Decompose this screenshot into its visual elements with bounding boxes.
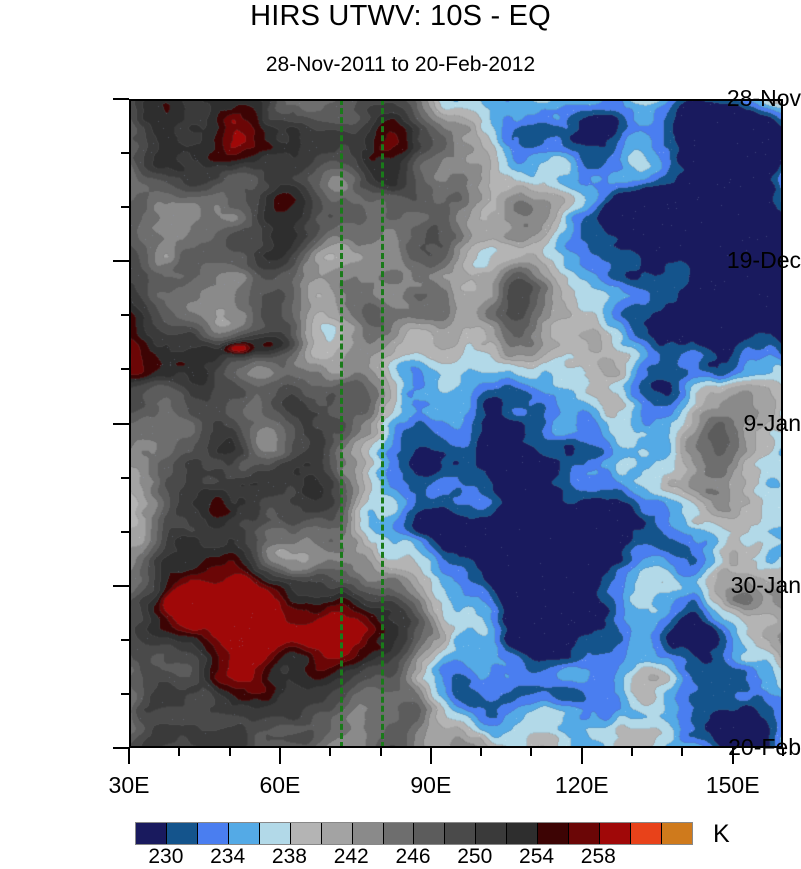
colorbar-tick-label: 250 <box>457 845 492 869</box>
x-tick-minor <box>681 748 683 756</box>
y-tick-minor <box>121 368 129 370</box>
colorbar-tick-label: 230 <box>148 845 183 869</box>
colorbar-cell[interactable] <box>414 823 445 844</box>
colorbar-cell[interactable] <box>476 823 507 844</box>
colorbar-cell[interactable] <box>569 823 600 844</box>
colorbar-cell[interactable] <box>538 823 569 844</box>
y-tick-label: 30-Jan <box>694 572 801 599</box>
colorbar-cell[interactable] <box>353 823 384 844</box>
colorbar[interactable] <box>135 822 693 845</box>
figure-subtitle: 28-Nov-2011 to 20-Feb-2012 <box>0 53 801 77</box>
x-tick-minor <box>178 748 180 756</box>
y-tick-minor <box>121 152 129 154</box>
x-tick-label: 30E <box>109 772 150 799</box>
x-tick-label: 120E <box>555 772 609 799</box>
colorbar-cell[interactable] <box>600 823 631 844</box>
y-tick-minor <box>121 639 129 641</box>
colorbar-tick-label: 246 <box>395 845 430 869</box>
x-tick-major <box>430 748 432 764</box>
colorbar-tick-label: 254 <box>519 845 554 869</box>
y-tick-major <box>113 98 129 100</box>
x-tick-label: 60E <box>259 772 300 799</box>
colorbar-tick-label: 238 <box>272 845 307 869</box>
y-tick-label: 9-Jan <box>694 410 801 437</box>
colorbar-cell[interactable] <box>136 823 167 844</box>
colorbar-cell[interactable] <box>322 823 353 844</box>
y-tick-major <box>113 260 129 262</box>
y-tick-minor <box>121 314 129 316</box>
x-tick-minor <box>480 748 482 756</box>
x-tick-minor <box>380 748 382 756</box>
x-tick-label: 150E <box>706 772 760 799</box>
colorbar-cell[interactable] <box>167 823 198 844</box>
x-tick-label: 90E <box>410 772 451 799</box>
colorbar-tick-label: 242 <box>334 845 369 869</box>
colorbar-cell[interactable] <box>662 823 692 844</box>
x-tick-minor <box>229 748 231 756</box>
hovmoller-figure: HIRS UTWV: 10S - EQ 28-Nov-2011 to 20-Fe… <box>0 0 801 863</box>
page-title: HIRS UTWV: 10S - EQ <box>0 0 801 33</box>
x-tick-minor <box>631 748 633 756</box>
colorbar-tick-label: 234 <box>210 845 245 869</box>
x-tick-major <box>732 748 734 764</box>
plot-area <box>129 99 783 748</box>
y-tick-label: 19-Dec <box>694 247 801 274</box>
y-tick-minor <box>121 693 129 695</box>
y-tick-major <box>113 423 129 425</box>
x-tick-major <box>128 748 130 764</box>
colorbar-cell[interactable] <box>198 823 229 844</box>
y-tick-minor <box>121 206 129 208</box>
y-tick-major <box>113 585 129 587</box>
colorbar-cell[interactable] <box>507 823 538 844</box>
hovmoller-contour-field <box>129 99 783 748</box>
colorbar-cell[interactable] <box>260 823 291 844</box>
x-tick-minor <box>530 748 532 756</box>
x-tick-major <box>279 748 281 764</box>
y-tick-label: 20-Feb <box>694 734 801 761</box>
x-tick-minor <box>782 748 784 756</box>
x-tick-major <box>581 748 583 764</box>
colorbar-cell[interactable] <box>291 823 322 844</box>
colorbar-tick-label: 258 <box>581 845 616 869</box>
y-tick-major <box>113 747 129 749</box>
y-tick-minor <box>121 477 129 479</box>
colorbar-cell[interactable] <box>384 823 415 844</box>
x-tick-minor <box>329 748 331 756</box>
y-tick-minor <box>121 531 129 533</box>
colorbar-cell[interactable] <box>229 823 260 844</box>
colorbar-cell[interactable] <box>631 823 662 844</box>
colorbar-cell[interactable] <box>445 823 476 844</box>
colorbar-unit-label: K <box>713 820 730 849</box>
y-tick-label: 28-Nov <box>694 85 801 112</box>
